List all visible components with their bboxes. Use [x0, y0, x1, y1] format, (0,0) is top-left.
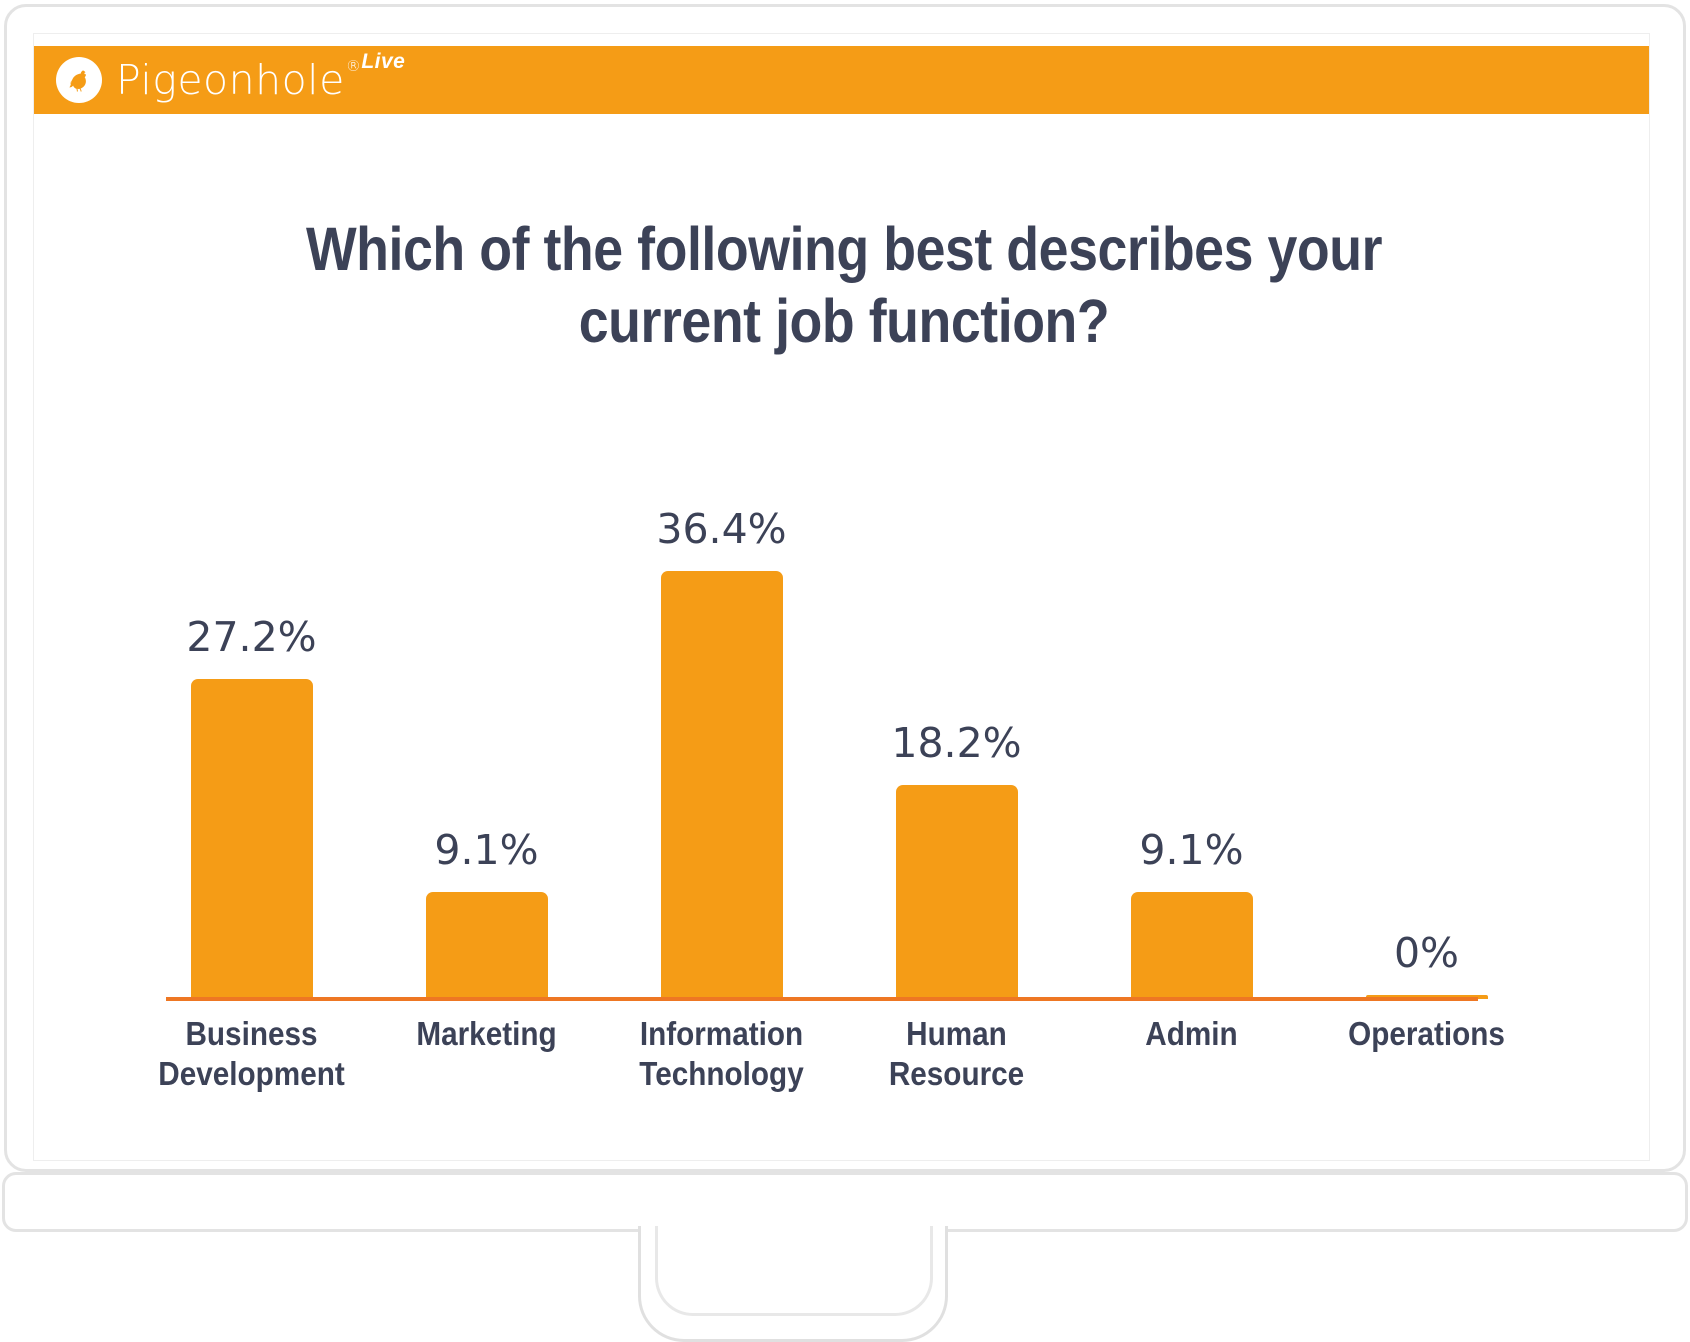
screen-content-area: Pigeonhole®Live Which of the following b…: [33, 33, 1650, 1161]
brand-header-bar: Pigeonhole®Live: [34, 46, 1650, 114]
bar-value-label: 0%: [1394, 929, 1459, 977]
x-axis-label: Human Resource: [851, 1014, 1063, 1095]
bar: [896, 785, 1018, 999]
brand-name: Pigeonhole: [116, 56, 345, 104]
bar-value-label: 36.4%: [656, 505, 786, 553]
bar-chart: 27.2%9.1%36.4%18.2%9.1%0% Business Devel…: [134, 454, 1544, 1134]
bar-column: 36.4%: [604, 454, 839, 999]
brand-suffix: Live: [361, 50, 405, 73]
bird-icon: [56, 57, 102, 103]
bar-value-label: 9.1%: [1139, 826, 1243, 874]
bar: [661, 571, 783, 999]
bar-column: 0%: [1309, 454, 1544, 999]
bar-value-label: 9.1%: [434, 826, 538, 874]
page-title: Which of the following best describes yo…: [290, 214, 1399, 358]
bar-column: 18.2%: [839, 454, 1074, 999]
registered-mark: ®: [346, 57, 362, 75]
x-axis-line: [166, 997, 1478, 1001]
x-axis-label: Marketing: [381, 1014, 593, 1095]
x-axis-label: Operations: [1321, 1014, 1533, 1095]
monitor-base-bar: [2, 1172, 1688, 1232]
bar: [1131, 892, 1253, 999]
bar: [426, 892, 548, 999]
x-axis-label: Information Technology: [616, 1014, 828, 1095]
bar-column: 9.1%: [369, 454, 604, 999]
monitor-stand: [638, 1226, 948, 1342]
brand-wordmark: Pigeonhole®Live: [116, 56, 404, 104]
bar-value-label: 27.2%: [186, 613, 316, 661]
bar: [191, 679, 313, 999]
bar-column: 9.1%: [1074, 454, 1309, 999]
monitor-illustration: Pigeonhole®Live Which of the following b…: [0, 0, 1690, 1342]
x-axis-label: Admin: [1086, 1014, 1298, 1095]
x-axis-label: Business Development: [146, 1014, 358, 1095]
x-axis-labels: Business DevelopmentMarketingInformation…: [134, 1014, 1544, 1095]
chart-plot-area: 27.2%9.1%36.4%18.2%9.1%0%: [134, 454, 1544, 999]
monitor-stand-inner: [655, 1226, 933, 1316]
bar-column: 27.2%: [134, 454, 369, 999]
bar-value-label: 18.2%: [891, 719, 1021, 767]
